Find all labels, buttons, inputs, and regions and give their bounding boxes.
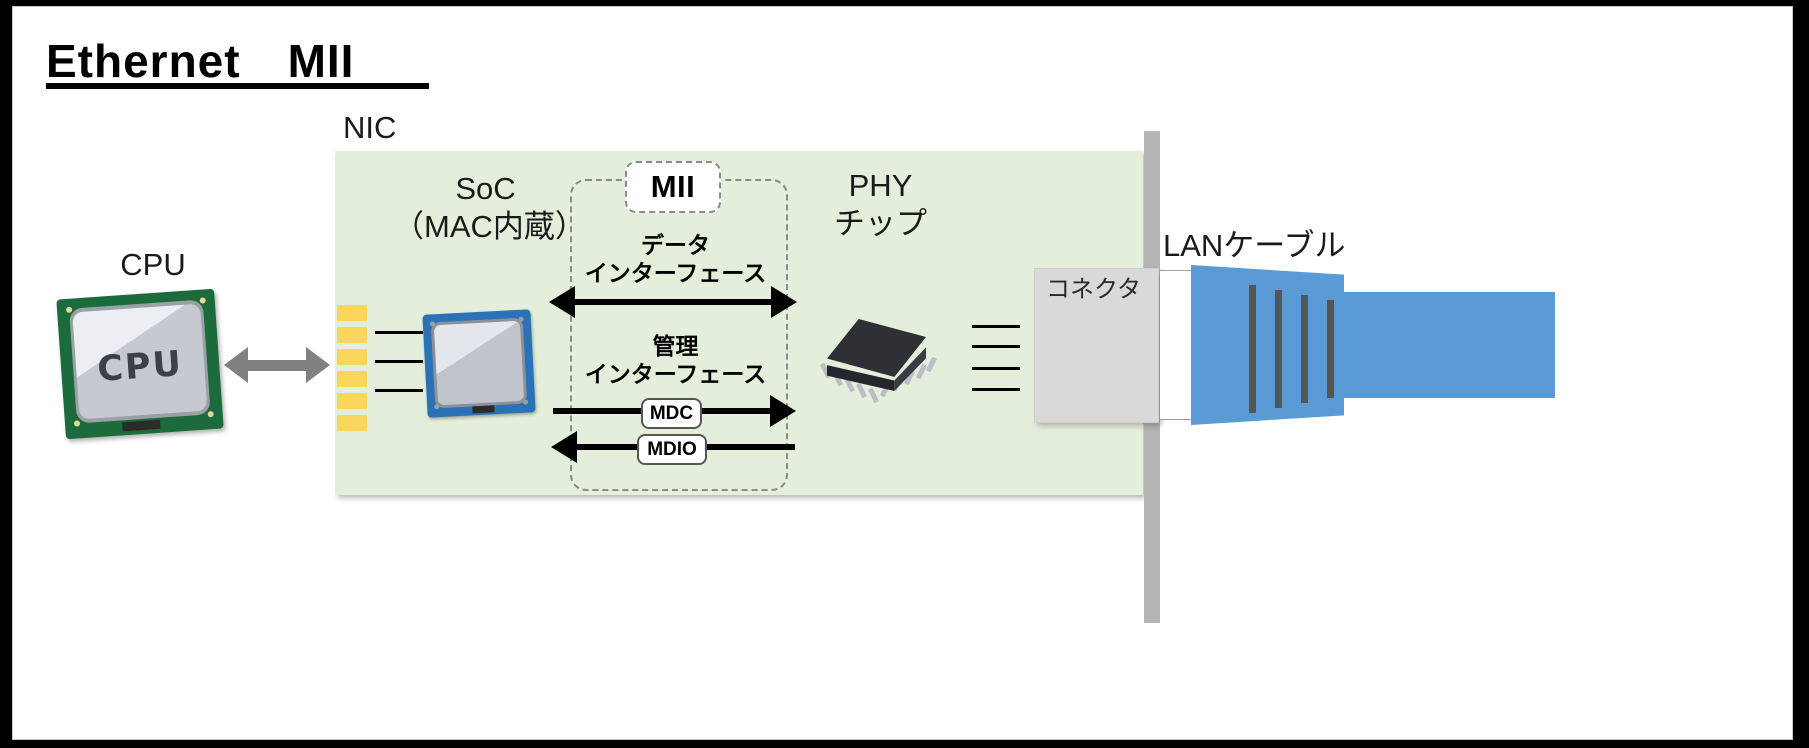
data-interface-label: データ インターフェース (553, 231, 798, 287)
plug-prong (1301, 295, 1308, 403)
mdio-arrow-head (551, 431, 577, 463)
slide-canvas: Ethernet MII NIC SoC （MAC内蔵） PHY チップ (12, 6, 1793, 740)
page-title: Ethernet MII (46, 25, 354, 91)
data-interface-arrow-head-right (771, 286, 797, 318)
data-interface-arrow-shaft (573, 299, 783, 305)
signal-label-mdc: MDC (641, 398, 702, 429)
rj45-plug (1191, 265, 1344, 425)
pcb-trace (375, 389, 423, 392)
mii-badge: MII (625, 161, 721, 213)
soc-chip-graphic (422, 309, 535, 418)
lan-cable-label: LANケーブル (1163, 227, 1345, 265)
cpu-chip-graphic: CPU (56, 289, 223, 440)
pcb-trace (972, 345, 1020, 348)
pcb-trace (972, 325, 1020, 328)
plug-prong (1249, 285, 1256, 413)
plug-prong (1327, 300, 1334, 398)
phy-chip-graphic (813, 319, 940, 405)
pcb-trace (972, 388, 1020, 391)
pcb-trace (972, 367, 1020, 370)
cpu-nic-bidirectional-arrow (224, 347, 330, 383)
lan-cable-body (1341, 292, 1555, 398)
edge-connector-pin (337, 305, 367, 321)
connector-label: コネクタ (1046, 275, 1141, 304)
mdc-arrow-head (770, 395, 796, 427)
pcb-trace (375, 331, 423, 334)
phy-label: PHY チップ (803, 167, 958, 243)
data-interface-arrow-head-left (549, 286, 575, 318)
edge-connector-pin (337, 371, 367, 387)
edge-connector-pin (337, 349, 367, 365)
nic-label: NIC (343, 109, 396, 147)
edge-connector-pin (337, 415, 367, 431)
management-interface-label: 管理 インターフェース (553, 332, 798, 388)
edge-connector-pin (337, 393, 367, 409)
cpu-label: CPU (88, 246, 218, 284)
signal-label-mdio: MDIO (637, 434, 707, 465)
soc-label: SoC （MAC内蔵） (393, 170, 578, 246)
edge-connector-pin (337, 327, 367, 343)
title-underline (46, 83, 429, 89)
plug-prong (1275, 290, 1282, 408)
pcb-trace (375, 360, 423, 363)
